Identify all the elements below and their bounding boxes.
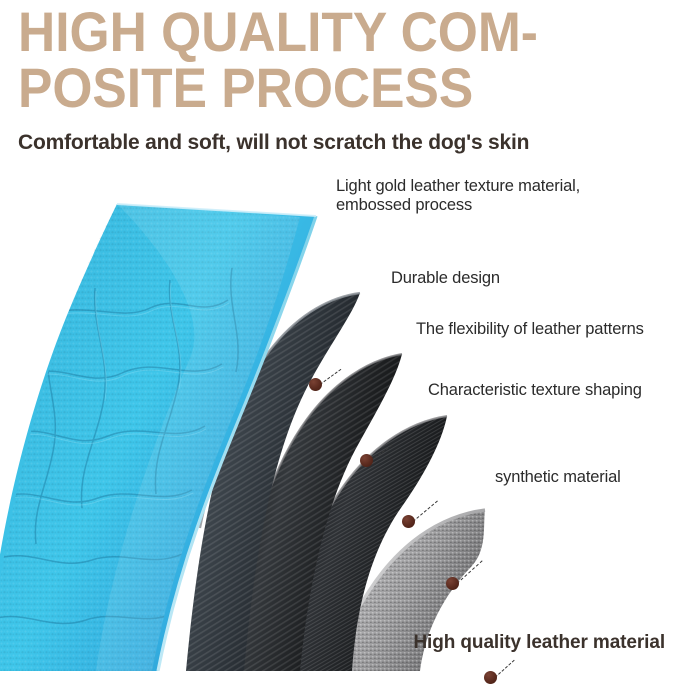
callout-dot-light-gold bbox=[309, 378, 322, 391]
footer-caption: High quality leather material bbox=[413, 632, 665, 654]
callout-label-leather-flexibility: The flexibility of leather patterns bbox=[416, 320, 644, 339]
callout-label-durable-design: Durable design bbox=[391, 269, 500, 288]
callout-dot-durable-design bbox=[360, 454, 373, 467]
page-subtitle: Comfortable and soft, will not scratch t… bbox=[18, 131, 529, 155]
page-title: HIGH QUALITY COM- POSITE PROCESS bbox=[18, 4, 616, 116]
callout-label-synthetic-material: synthetic material bbox=[495, 468, 621, 487]
header-block: HIGH QUALITY COM- POSITE PROCESS Comfort… bbox=[0, 0, 679, 168]
layer-stack-diagram bbox=[0, 168, 679, 671]
callout-label-texture-shaping: Characteristic texture shaping bbox=[428, 381, 642, 400]
callout-dot-texture-shaping bbox=[446, 577, 459, 590]
composite-layers-illustration: Light gold leather texture material, emb… bbox=[0, 168, 679, 671]
callout-label-light-gold: Light gold leather texture material, emb… bbox=[336, 177, 580, 215]
callout-dot-synthetic-material bbox=[484, 671, 497, 684]
callout-dot-leather-flexibility bbox=[402, 515, 415, 528]
